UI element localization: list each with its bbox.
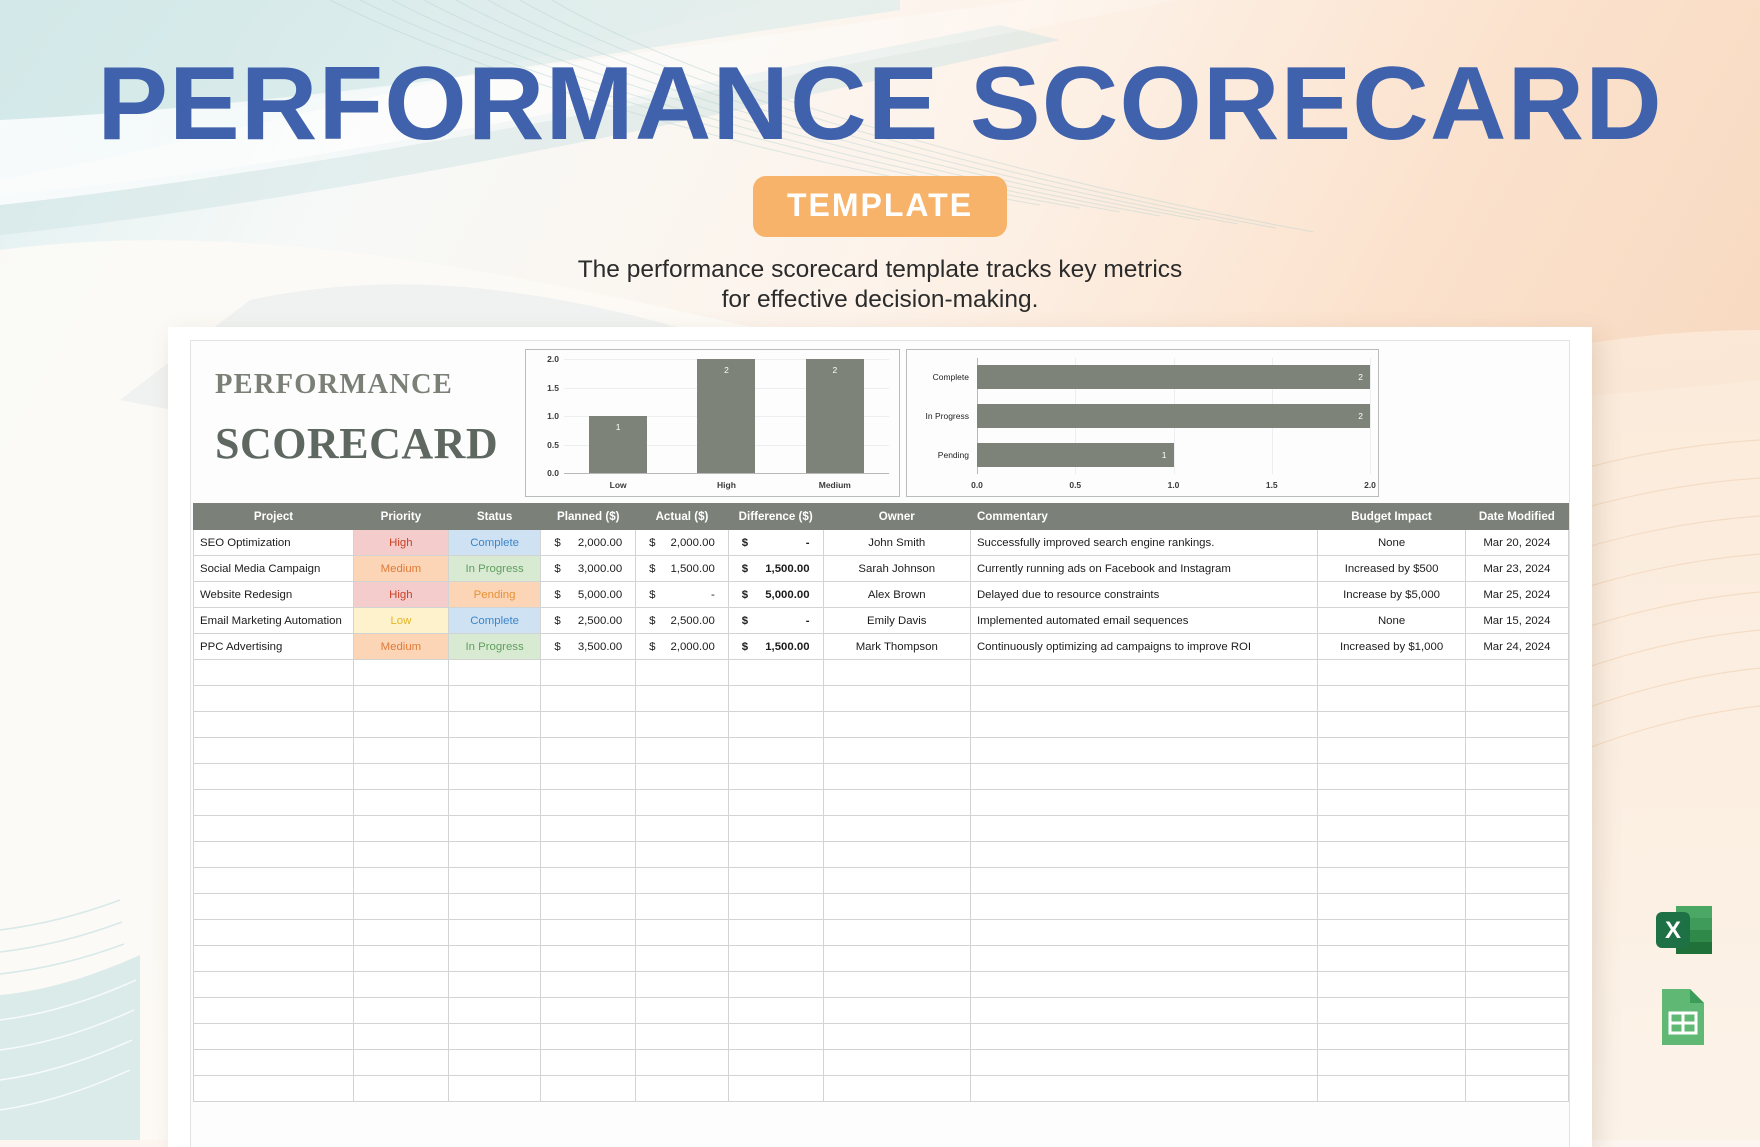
hero-subtitle-line1: The performance scorecard template track… [430, 255, 1330, 285]
table-cell-empty[interactable] [1465, 790, 1568, 816]
table-cell-empty[interactable] [970, 764, 1317, 790]
table-cell-empty[interactable] [354, 946, 449, 972]
table-cell-empty[interactable] [823, 998, 970, 1024]
table-row: SEO OptimizationHighComplete$2,000.00$2,… [194, 530, 1569, 556]
table-cell-empty[interactable] [823, 1076, 970, 1102]
cell-date-modified[interactable]: Mar 15, 2024 [1465, 608, 1568, 634]
status-chart-row: Pending1 [977, 443, 1370, 467]
cell-status[interactable]: In Progress [448, 634, 541, 660]
status-chart-bars: Complete2In Progress2Pending1 [977, 358, 1370, 474]
table-cell-empty[interactable] [1465, 712, 1568, 738]
table-cell-empty[interactable] [354, 894, 449, 920]
table-cell[interactable]: $2,500.00 [541, 608, 636, 634]
table-cell-empty[interactable] [448, 972, 541, 998]
table-cell-empty[interactable] [541, 1050, 636, 1076]
cell-commentary[interactable]: Delayed due to resource constraints [970, 582, 1317, 608]
table-cell-empty[interactable] [448, 868, 541, 894]
table-cell-empty[interactable] [194, 1050, 354, 1076]
currency-symbol: $ [554, 589, 560, 601]
table-cell-empty[interactable] [541, 738, 636, 764]
table-cell-empty[interactable] [1465, 738, 1568, 764]
table-cell[interactable]: $2,500.00 [636, 608, 729, 634]
table-column-header[interactable]: Difference ($) [728, 504, 823, 530]
table-cell-empty[interactable] [636, 738, 729, 764]
priority-chart-bar: 2 [806, 359, 864, 473]
table-cell-empty[interactable] [970, 1024, 1317, 1050]
table-cell-empty[interactable] [194, 790, 354, 816]
currency-value: 2,000.00 [670, 537, 714, 549]
table-cell-empty[interactable] [636, 712, 729, 738]
table-cell-empty[interactable] [636, 660, 729, 686]
currency-symbol: $ [554, 641, 560, 653]
table-cell-empty[interactable] [728, 712, 823, 738]
table-column-header[interactable]: Actual ($) [636, 504, 729, 530]
page-title: PERFORMANCE SCORECARD [0, 0, 1760, 156]
table-row-empty [194, 1024, 1569, 1050]
table-cell-empty[interactable] [636, 816, 729, 842]
table-cell[interactable]: $- [728, 608, 823, 634]
table-cell-empty[interactable] [1465, 946, 1568, 972]
currency-value: 2,000.00 [578, 537, 622, 549]
currency-value: 2,000.00 [670, 641, 714, 653]
table-cell-empty[interactable] [1318, 894, 1465, 920]
table-cell-empty[interactable] [636, 920, 729, 946]
table-cell-empty[interactable] [970, 972, 1317, 998]
cell-project[interactable]: Social Media Campaign [194, 556, 354, 582]
table-cell-empty[interactable] [354, 660, 449, 686]
table-cell-empty[interactable] [354, 972, 449, 998]
status-chart-gridline [1370, 358, 1371, 474]
cell-owner[interactable]: Alex Brown [823, 582, 970, 608]
table-cell-empty[interactable] [448, 790, 541, 816]
table-cell-empty[interactable] [541, 920, 636, 946]
table-cell-empty[interactable] [448, 1076, 541, 1102]
priority-bar-chart: 0.00.51.01.52.0 122 LowHighMedium [525, 349, 900, 497]
table-cell-empty[interactable] [970, 998, 1317, 1024]
table-cell-empty[interactable] [1318, 998, 1465, 1024]
table-cell[interactable]: $- [728, 530, 823, 556]
cell-commentary[interactable]: Continuously optimizing ad campaigns to … [970, 634, 1317, 660]
table-cell-empty[interactable] [1465, 894, 1568, 920]
table-cell-empty[interactable] [1465, 868, 1568, 894]
table-cell-empty[interactable] [970, 816, 1317, 842]
table-cell-empty[interactable] [636, 998, 729, 1024]
table-cell-empty[interactable] [1318, 764, 1465, 790]
status-chart-row: In Progress2 [977, 404, 1370, 428]
currency-value: 1,500.00 [670, 563, 714, 575]
table-column-header[interactable]: Commentary [970, 504, 1317, 530]
table-cell-empty[interactable] [541, 972, 636, 998]
table-cell-empty[interactable] [636, 894, 729, 920]
table-cell-empty[interactable] [636, 868, 729, 894]
cell-date-modified[interactable]: Mar 20, 2024 [1465, 530, 1568, 556]
cell-priority[interactable]: Medium [354, 556, 449, 582]
table-cell-empty[interactable] [194, 1076, 354, 1102]
currency-value: 5,000.00 [578, 589, 622, 601]
table-cell-empty[interactable] [541, 842, 636, 868]
table-cell-empty[interactable] [1465, 660, 1568, 686]
cell-priority[interactable]: Low [354, 608, 449, 634]
table-cell-empty[interactable] [1465, 998, 1568, 1024]
table-cell-empty[interactable] [194, 1024, 354, 1050]
table-cell-empty[interactable] [970, 738, 1317, 764]
table-cell-empty[interactable] [194, 998, 354, 1024]
cell-status[interactable]: Pending [448, 582, 541, 608]
table-cell-empty[interactable] [448, 842, 541, 868]
table-cell-empty[interactable] [1465, 816, 1568, 842]
table-cell-empty[interactable] [1465, 764, 1568, 790]
table-cell-empty[interactable] [970, 946, 1317, 972]
hero-subtitle-line2: for effective decision-making. [430, 285, 1330, 315]
table-cell-empty[interactable] [194, 894, 354, 920]
google-sheets-icon[interactable] [1654, 987, 1716, 1052]
table-cell-empty[interactable] [728, 998, 823, 1024]
table-cell-empty[interactable] [194, 686, 354, 712]
cell-project[interactable]: Website Redesign [194, 582, 354, 608]
table-cell-empty[interactable] [448, 946, 541, 972]
table-cell-empty[interactable] [194, 660, 354, 686]
table-cell-empty[interactable] [194, 920, 354, 946]
table-cell-empty[interactable] [1318, 842, 1465, 868]
table-cell-empty[interactable] [823, 816, 970, 842]
table-cell-empty[interactable] [823, 894, 970, 920]
table-cell-empty[interactable] [541, 1024, 636, 1050]
table-column-header[interactable]: Status [448, 504, 541, 530]
status-chart-xtick: 2.0 [1364, 480, 1376, 490]
sheet-top-area: PERFORMANCE SCORECARD 0.00.51.01.52.0 12… [191, 341, 1569, 503]
table-cell-empty[interactable] [354, 1050, 449, 1076]
table-cell-empty[interactable] [541, 946, 636, 972]
status-chart-xlabels: 0.00.51.01.52.0 [977, 480, 1370, 493]
table-cell-empty[interactable] [823, 946, 970, 972]
hero-section: PERFORMANCE SCORECARD TEMPLATE The perfo… [0, 0, 1760, 315]
table-cell-empty[interactable] [728, 1076, 823, 1102]
table-row-empty [194, 998, 1569, 1024]
table-cell-empty[interactable] [541, 790, 636, 816]
table-cell-empty[interactable] [823, 1050, 970, 1076]
table-cell-empty[interactable] [1465, 920, 1568, 946]
cell-status[interactable]: Complete [448, 530, 541, 556]
cell-date-modified[interactable]: Mar 24, 2024 [1465, 634, 1568, 660]
table-cell-empty[interactable] [354, 712, 449, 738]
table-cell-empty[interactable] [728, 738, 823, 764]
status-chart-bar: 1 [977, 443, 1174, 467]
table-cell-empty[interactable] [354, 764, 449, 790]
cell-budget-impact[interactable]: Increased by $500 [1318, 556, 1465, 582]
currency-symbol: $ [649, 615, 655, 627]
table-cell-empty[interactable] [194, 764, 354, 790]
table-cell-empty[interactable] [823, 660, 970, 686]
table-cell-empty[interactable] [970, 1050, 1317, 1076]
status-chart-category-label: In Progress [926, 411, 969, 421]
table-cell-empty[interactable] [1465, 1024, 1568, 1050]
currency-value: 2,500.00 [670, 615, 714, 627]
cell-priority[interactable]: High [354, 530, 449, 556]
table-cell-empty[interactable] [823, 764, 970, 790]
table-cell-empty[interactable] [970, 790, 1317, 816]
table-cell-empty[interactable] [448, 660, 541, 686]
table-row-empty [194, 738, 1569, 764]
table-row-empty [194, 712, 1569, 738]
cell-date-modified[interactable]: Mar 23, 2024 [1465, 556, 1568, 582]
currency-symbol: $ [554, 615, 560, 627]
table-column-header[interactable]: Budget Impact [1318, 504, 1465, 530]
cell-budget-impact[interactable]: Increase by $5,000 [1318, 582, 1465, 608]
priority-chart-bar: 1 [589, 416, 647, 473]
cell-budget-impact[interactable]: None [1318, 530, 1465, 556]
table-cell[interactable]: $5,000.00 [728, 582, 823, 608]
table-row: PPC AdvertisingMediumIn Progress$3,500.0… [194, 634, 1569, 660]
cell-owner[interactable]: Mark Thompson [823, 634, 970, 660]
currency-symbol: $ [742, 641, 748, 653]
table-cell-empty[interactable] [636, 842, 729, 868]
table-cell-empty[interactable] [448, 894, 541, 920]
table-cell-empty[interactable] [354, 686, 449, 712]
table-cell-empty[interactable] [970, 842, 1317, 868]
table-row-empty [194, 1050, 1569, 1076]
status-chart-plot: Complete2In Progress2Pending1 [977, 358, 1370, 474]
cell-commentary[interactable]: Implemented automated email sequences [970, 608, 1317, 634]
table-cell-empty[interactable] [823, 738, 970, 764]
currency-symbol: $ [649, 589, 655, 601]
table-body: SEO OptimizationHighComplete$2,000.00$2,… [194, 530, 1569, 1102]
cell-status[interactable]: Complete [448, 608, 541, 634]
table-cell-empty[interactable] [1318, 946, 1465, 972]
table-row-empty [194, 790, 1569, 816]
table-cell-empty[interactable] [448, 920, 541, 946]
table-cell[interactable]: $- [636, 582, 729, 608]
table-cell-empty[interactable] [448, 1050, 541, 1076]
table-cell[interactable]: $1,500.00 [728, 556, 823, 582]
priority-chart-plot: 0.00.51.01.52.0 122 [564, 359, 889, 473]
table-cell-empty[interactable] [636, 1076, 729, 1102]
table-cell-empty[interactable] [823, 686, 970, 712]
table-cell-empty[interactable] [728, 764, 823, 790]
table-cell-empty[interactable] [823, 1024, 970, 1050]
table-cell-empty[interactable] [728, 842, 823, 868]
table-cell-empty[interactable] [354, 868, 449, 894]
table-cell[interactable]: $1,500.00 [728, 634, 823, 660]
table-cell-empty[interactable] [541, 764, 636, 790]
currency-value: - [806, 615, 810, 627]
template-badge-wrap: TEMPLATE [0, 176, 1760, 237]
table-cell-empty[interactable] [448, 712, 541, 738]
table-cell-empty[interactable] [354, 790, 449, 816]
currency-symbol: $ [742, 563, 748, 575]
table-cell-empty[interactable] [194, 738, 354, 764]
table-cell-empty[interactable] [823, 712, 970, 738]
currency-symbol: $ [742, 589, 748, 601]
status-bar-chart: Complete2In Progress2Pending1 0.00.51.01… [906, 349, 1379, 497]
table-cell-empty[interactable] [194, 946, 354, 972]
table-column-header[interactable]: Priority [354, 504, 449, 530]
table-row-empty [194, 660, 1569, 686]
table-cell-empty[interactable] [354, 1024, 449, 1050]
table-cell-empty[interactable] [1318, 1024, 1465, 1050]
priority-chart-category-label: High [697, 480, 755, 490]
table-cell-empty[interactable] [194, 972, 354, 998]
table-cell[interactable]: $2,000.00 [636, 634, 729, 660]
table-cell-empty[interactable] [728, 894, 823, 920]
table-cell-empty[interactable] [1318, 868, 1465, 894]
table-cell-empty[interactable] [354, 920, 449, 946]
table-cell-empty[interactable] [541, 686, 636, 712]
cell-date-modified[interactable]: Mar 25, 2024 [1465, 582, 1568, 608]
sheet-logo-line2: SCORECARD [215, 422, 517, 466]
status-chart-bar: 2 [977, 404, 1370, 428]
table-cell-empty[interactable] [728, 972, 823, 998]
table-cell-empty[interactable] [354, 738, 449, 764]
table-cell-empty[interactable] [636, 790, 729, 816]
table-cell-empty[interactable] [728, 868, 823, 894]
cell-owner[interactable]: Emily Davis [823, 608, 970, 634]
table-cell[interactable]: $3,000.00 [541, 556, 636, 582]
currency-value: 1,500.00 [765, 641, 809, 653]
cell-budget-impact[interactable]: None [1318, 608, 1465, 634]
cell-commentary[interactable]: Successfully improved search engine rank… [970, 530, 1317, 556]
table-cell-empty[interactable] [823, 790, 970, 816]
cell-status[interactable]: In Progress [448, 556, 541, 582]
table-cell-empty[interactable] [194, 816, 354, 842]
priority-chart-bar-value: 2 [806, 365, 864, 375]
table-cell-empty[interactable] [728, 790, 823, 816]
excel-icon[interactable]: X [1654, 902, 1716, 965]
table-cell-empty[interactable] [823, 920, 970, 946]
table-row-empty [194, 842, 1569, 868]
table-cell-empty[interactable] [728, 920, 823, 946]
table-cell-empty[interactable] [354, 816, 449, 842]
table-cell-empty[interactable] [728, 1050, 823, 1076]
table-cell-empty[interactable] [1318, 920, 1465, 946]
table-cell-empty[interactable] [970, 1076, 1317, 1102]
cell-project[interactable]: SEO Optimization [194, 530, 354, 556]
cell-project[interactable]: Email Marketing Automation [194, 608, 354, 634]
table-cell-empty[interactable] [194, 868, 354, 894]
table-row: Social Media CampaignMediumIn Progress$3… [194, 556, 1569, 582]
table-cell-empty[interactable] [1318, 1050, 1465, 1076]
cell-project[interactable]: PPC Advertising [194, 634, 354, 660]
table-cell-empty[interactable] [970, 660, 1317, 686]
currency-symbol: $ [742, 537, 748, 549]
priority-chart-bar-value: 2 [697, 365, 755, 375]
table-cell-empty[interactable] [970, 894, 1317, 920]
table-cell-empty[interactable] [823, 842, 970, 868]
cell-priority[interactable]: High [354, 582, 449, 608]
table-column-header[interactable]: Date Modified [1465, 504, 1568, 530]
table-cell-empty[interactable] [636, 686, 729, 712]
table-cell-empty[interactable] [354, 842, 449, 868]
table-column-header[interactable]: Planned ($) [541, 504, 636, 530]
table-cell[interactable]: $2,000.00 [541, 530, 636, 556]
currency-value: 3,500.00 [578, 641, 622, 653]
table-cell[interactable]: $1,500.00 [636, 556, 729, 582]
table-cell-empty[interactable] [636, 764, 729, 790]
table-row-empty [194, 946, 1569, 972]
table-cell-empty[interactable] [970, 920, 1317, 946]
table-cell-empty[interactable] [728, 816, 823, 842]
table-cell-empty[interactable] [448, 738, 541, 764]
table-cell-empty[interactable] [1465, 1076, 1568, 1102]
table-cell-empty[interactable] [823, 972, 970, 998]
table-cell-empty[interactable] [1465, 842, 1568, 868]
table-cell[interactable]: $3,500.00 [541, 634, 636, 660]
table-cell[interactable]: $2,000.00 [636, 530, 729, 556]
table-cell-empty[interactable] [448, 686, 541, 712]
table-cell-empty[interactable] [448, 998, 541, 1024]
table-cell-empty[interactable] [728, 686, 823, 712]
table-cell-empty[interactable] [1465, 972, 1568, 998]
cell-owner[interactable]: Sarah Johnson [823, 556, 970, 582]
spreadsheet-canvas: PERFORMANCE SCORECARD 0.00.51.01.52.0 12… [190, 340, 1570, 1147]
table-cell-empty[interactable] [1465, 1050, 1568, 1076]
table-cell-empty[interactable] [541, 868, 636, 894]
table-cell-empty[interactable] [728, 1024, 823, 1050]
table-cell-empty[interactable] [1318, 816, 1465, 842]
table-cell-empty[interactable] [1318, 712, 1465, 738]
table-cell-empty[interactable] [448, 1024, 541, 1050]
table-cell-empty[interactable] [1318, 1076, 1465, 1102]
table-cell-empty[interactable] [194, 712, 354, 738]
table-cell-empty[interactable] [636, 972, 729, 998]
table-cell-empty[interactable] [970, 686, 1317, 712]
status-chart-xtick: 1.5 [1266, 480, 1278, 490]
table-cell-empty[interactable] [728, 946, 823, 972]
cell-budget-impact[interactable]: Increased by $1,000 [1318, 634, 1465, 660]
table-cell-empty[interactable] [448, 816, 541, 842]
cell-owner[interactable]: John Smith [823, 530, 970, 556]
table-cell-empty[interactable] [823, 868, 970, 894]
table-cell-empty[interactable] [541, 816, 636, 842]
svg-text:X: X [1665, 917, 1681, 944]
table-cell-empty[interactable] [970, 712, 1317, 738]
table-cell-empty[interactable] [354, 1076, 449, 1102]
table-cell-empty[interactable] [1318, 790, 1465, 816]
table-cell-empty[interactable] [354, 998, 449, 1024]
table-cell-empty[interactable] [541, 660, 636, 686]
table-column-header[interactable]: Owner [823, 504, 970, 530]
currency-value: 1,500.00 [765, 563, 809, 575]
currency-symbol: $ [649, 641, 655, 653]
table-cell-empty[interactable] [1465, 686, 1568, 712]
sheet-logo: PERFORMANCE SCORECARD [197, 349, 517, 503]
table-cell-empty[interactable] [1318, 686, 1465, 712]
table-cell-empty[interactable] [636, 1024, 729, 1050]
table-cell-empty[interactable] [636, 1050, 729, 1076]
cell-priority[interactable]: Medium [354, 634, 449, 660]
table-cell-empty[interactable] [448, 764, 541, 790]
table-cell-empty[interactable] [541, 998, 636, 1024]
priority-chart-bar: 2 [697, 359, 755, 473]
table-column-header[interactable]: Project [194, 504, 354, 530]
priority-chart-gridline: 0.0 [564, 473, 889, 474]
priority-chart-ytick: 1.0 [547, 411, 559, 421]
table-cell-empty[interactable] [1318, 738, 1465, 764]
table-cell-empty[interactable] [1318, 660, 1465, 686]
table-cell-empty[interactable] [636, 946, 729, 972]
priority-chart-ytick: 0.5 [547, 440, 559, 450]
table-cell-empty[interactable] [194, 842, 354, 868]
status-chart-category-label: Pending [938, 450, 969, 460]
table-cell[interactable]: $5,000.00 [541, 582, 636, 608]
table-cell-empty[interactable] [541, 894, 636, 920]
table-cell-empty[interactable] [728, 660, 823, 686]
file-format-icons: X [1654, 880, 1716, 1052]
table-cell-empty[interactable] [541, 712, 636, 738]
table-cell-empty[interactable] [541, 1076, 636, 1102]
cell-commentary[interactable]: Currently running ads on Facebook and In… [970, 556, 1317, 582]
table-cell-empty[interactable] [1318, 972, 1465, 998]
table-cell-empty[interactable] [970, 868, 1317, 894]
